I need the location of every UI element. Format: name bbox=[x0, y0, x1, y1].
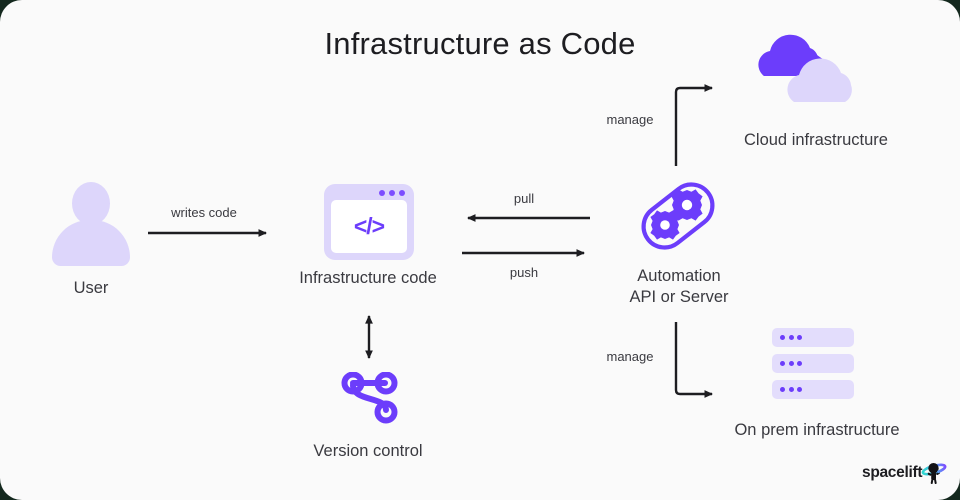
spacelift-logo: spacelift bbox=[862, 458, 952, 488]
planet-astronaut-icon bbox=[921, 460, 947, 486]
code-glyph: </> bbox=[354, 213, 384, 240]
user-label: User bbox=[31, 278, 151, 299]
window-dots bbox=[379, 190, 405, 196]
code-window-screen: </> bbox=[331, 200, 407, 253]
spacelift-wordmark: spacelift bbox=[862, 464, 922, 482]
server-rack-unit bbox=[772, 328, 854, 347]
version-control-label: Version control bbox=[288, 441, 448, 462]
on-prem-infrastructure-label: On prem infrastructure bbox=[702, 420, 932, 441]
user-body-shape bbox=[52, 220, 130, 266]
code-window-icon: </> bbox=[324, 184, 414, 260]
git-branch-icon bbox=[340, 372, 400, 424]
cloud-icon bbox=[752, 28, 860, 104]
edge-label-manage-on-prem: manage bbox=[578, 349, 682, 364]
edge-label-push: push bbox=[474, 265, 574, 280]
edge-label-pull: pull bbox=[474, 191, 574, 206]
gears-icon bbox=[634, 176, 722, 256]
server-rack-unit bbox=[772, 380, 854, 399]
edge-manage-cloud bbox=[676, 88, 712, 166]
server-leds bbox=[780, 335, 802, 340]
edge-label-writes-code: writes code bbox=[148, 205, 260, 220]
server-leds bbox=[780, 361, 802, 366]
server-leds bbox=[780, 387, 802, 392]
automation-label: Automation API or Server bbox=[598, 266, 760, 308]
server-rack-unit bbox=[772, 354, 854, 373]
user-head-shape bbox=[72, 182, 110, 225]
diagram-canvas: Infrastructure as Code bbox=[0, 0, 960, 500]
server-rack-icon bbox=[772, 328, 854, 400]
user-icon bbox=[52, 182, 130, 264]
infrastructure-code-label: Infrastructure code bbox=[278, 268, 458, 289]
edge-label-manage-cloud: manage bbox=[578, 112, 682, 127]
cloud-infrastructure-label: Cloud infrastructure bbox=[716, 130, 916, 151]
